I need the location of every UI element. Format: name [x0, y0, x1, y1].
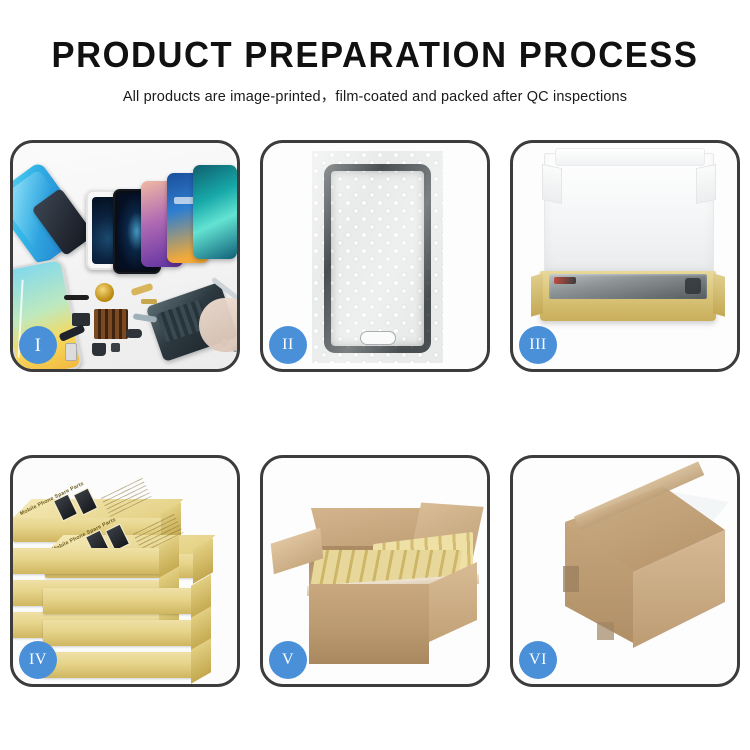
step-badge-1: I	[19, 326, 57, 364]
carton-tab-upper	[563, 566, 579, 592]
part-flex-cable-2	[141, 299, 157, 304]
step-numeral-2: II	[282, 337, 294, 353]
step-panel-3: III	[510, 140, 740, 372]
steps-row-1: I II	[10, 140, 740, 372]
inner-box-plain	[43, 652, 195, 678]
part-button-1	[111, 343, 120, 352]
inner-box-plain	[43, 620, 195, 646]
product-preparation-infographic: PRODUCT PREPARATION PROCESS All products…	[0, 0, 750, 750]
steps-row-2: Mobile Phone Spare Parts Mobile Phone Sp…	[10, 455, 740, 687]
steps-grid: I II	[10, 140, 740, 687]
white-box-lid	[544, 153, 714, 277]
plastic-glare	[312, 151, 443, 363]
step-badge-5: V	[269, 641, 307, 679]
step-panel-4: Mobile Phone Spare Parts Mobile Phone Sp…	[10, 455, 240, 687]
part-connector-grid	[94, 309, 128, 339]
step-panel-6: VI	[510, 455, 740, 687]
step-numeral-5: V	[282, 652, 294, 668]
page-title: PRODUCT PREPARATION PROCESS	[15, 0, 735, 74]
step-badge-2: II	[269, 326, 307, 364]
step-panel-5: V	[260, 455, 490, 687]
inner-box-plain	[13, 548, 163, 574]
carton-front-panel	[309, 584, 429, 664]
step-badge-3: III	[519, 326, 557, 364]
part-sim-tray	[65, 343, 77, 361]
lid-foam-right	[696, 164, 716, 204]
part-speaker	[92, 343, 106, 356]
carton-tab-lower	[597, 622, 614, 640]
step-panel-1: I	[10, 140, 240, 372]
sealed-carton	[537, 486, 725, 666]
step-numeral-3: III	[529, 337, 546, 353]
step-badge-4: IV	[19, 641, 57, 679]
part-flex-cable-1	[130, 283, 153, 296]
kraft-box-tray	[540, 271, 716, 321]
wrapped-screen-in-box	[549, 274, 707, 299]
part-antenna-strip	[64, 295, 89, 300]
part-wireless-coil	[95, 283, 114, 302]
step-badge-6: VI	[519, 641, 557, 679]
phone-teal-swirl	[193, 165, 237, 259]
step-numeral-6: VI	[529, 652, 547, 668]
open-carton	[277, 480, 481, 670]
step-numeral-1: I	[35, 336, 42, 355]
header: PRODUCT PREPARATION PROCESS All products…	[0, 0, 750, 106]
lid-foam-left	[542, 164, 562, 204]
page-subtitle: All products are image-printed，film-coat…	[0, 74, 750, 106]
step-panel-2: II	[260, 140, 490, 372]
bubble-wrap-sheet	[312, 151, 443, 363]
step-numeral-4: IV	[29, 652, 47, 668]
part-button-2	[126, 329, 142, 338]
inner-box-plain	[43, 588, 195, 614]
